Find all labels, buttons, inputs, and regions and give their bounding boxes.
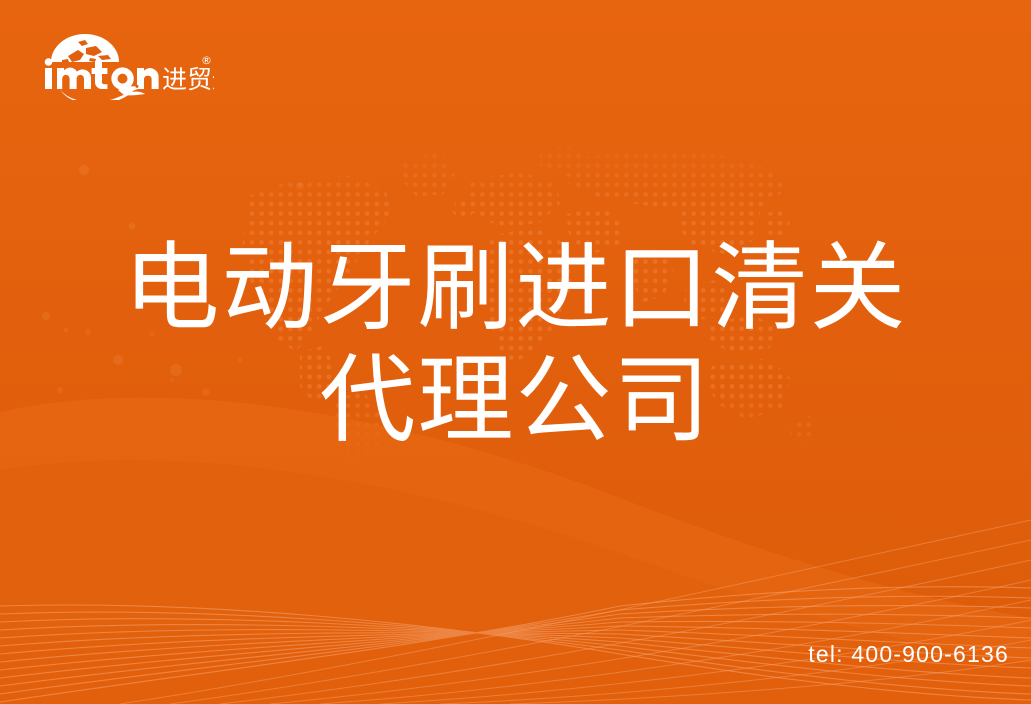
poster-canvas: 进贸通 ® 电动牙刷进口清关 代理公司 tel: 400-900-6136 (0, 0, 1031, 704)
page-title: 电动牙刷进口清关 代理公司 (0, 232, 1031, 456)
brand-chinese-name: 进贸通 (162, 65, 214, 94)
globe-dome-icon (51, 34, 119, 62)
headline-line-1: 电动牙刷进口清关 (0, 232, 1031, 344)
contact-phone[interactable]: tel: 400-900-6136 (808, 641, 1009, 668)
wordmark-imton (45, 58, 159, 90)
brand-logo[interactable]: 进贸通 ® (38, 26, 214, 100)
registered-mark: ® (201, 54, 212, 67)
brand-logo-svg: 进贸通 ® (38, 26, 214, 100)
headline-line-2: 代理公司 (0, 344, 1031, 456)
